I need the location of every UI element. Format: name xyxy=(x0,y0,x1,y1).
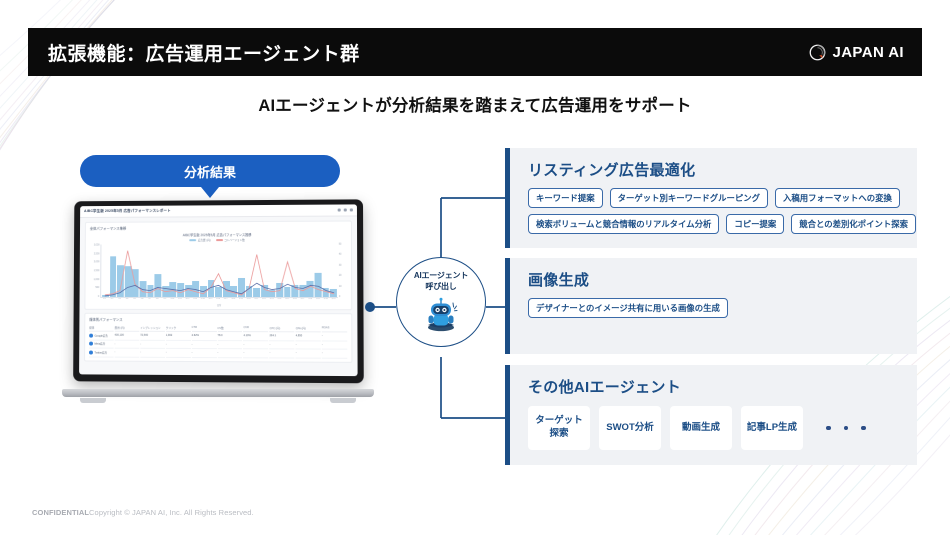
table-cell: - xyxy=(115,340,140,349)
x-tick: 5/12 xyxy=(184,298,191,306)
y-tick: 3,000 xyxy=(90,245,100,247)
chart-card: 全体パフォーマンス推移 AIBC学生版 2025年5月 広告パフォーマンス推移 … xyxy=(84,221,352,311)
y2-axis-ticks: 50403020100 xyxy=(339,244,347,298)
close-icon[interactable] xyxy=(350,208,353,211)
legend-label: 広告費 (円) xyxy=(198,238,211,242)
tag-row: 検索ボリュームと競合情報のリアルタイム分析コピー提案競合との差別化ポイント探索 xyxy=(528,214,903,234)
table-column-header: CVR xyxy=(243,324,268,332)
x-tick: 5/15 xyxy=(207,298,214,306)
table-cell: - xyxy=(217,349,242,358)
table-column-header: ROAS xyxy=(322,324,347,332)
x-tick: 5/5 xyxy=(131,298,138,306)
listing-tag-list: キーワード提案ターゲット別キーワードグルーピング入稿用フォーマットへの変換検索ボ… xyxy=(510,180,917,234)
slide-root: 拡張機能：広告運用エージェント群 JAPAN AI AIエージェントが分析結果を… xyxy=(0,0,950,535)
table-cell: 1,902 xyxy=(166,332,191,341)
panel-image-generation: 画像生成 デザイナーとのイメージ共有に用いる画像の生成 xyxy=(505,258,917,354)
table-column-header: CPC (円) xyxy=(269,324,294,332)
tag-row: キーワード提案ターゲット別キーワードグルーピング入稿用フォーマットへの変換 xyxy=(528,188,903,208)
table-cell: - xyxy=(243,349,268,358)
x-tick: 5/9 xyxy=(161,298,168,306)
table-cell: - xyxy=(114,349,139,358)
x-axis-label: 日付 xyxy=(217,303,221,307)
y2-tick: 30 xyxy=(339,265,347,267)
table-column-header: CV数 xyxy=(217,324,242,332)
dashboard-body: 全体パフォーマンス推移 AIBC学生版 2025年5月 広告パフォーマンス推移 … xyxy=(79,216,357,369)
table-cell: - xyxy=(296,341,321,350)
x-tick: 5/19 xyxy=(238,298,245,306)
table-cell: 78.0 xyxy=(217,332,242,341)
x-tick: 5/14 xyxy=(199,298,206,306)
x-tick: 5/10 xyxy=(169,298,176,306)
x-tick: 5/29 xyxy=(315,298,322,306)
dashboard-screenshot: AIBC学生版 2025年5月 広告パフォーマンスレポート 全体パフォーマンス推… xyxy=(79,204,358,376)
table-cell: - xyxy=(192,349,217,358)
agent-tag[interactable]: キーワード提案 xyxy=(528,188,603,208)
image-tag-list: デザイナーとのイメージ共有に用いる画像の生成 xyxy=(510,290,917,318)
laptop-foot-right xyxy=(330,398,356,403)
chart-lines xyxy=(101,244,338,297)
x-tick: 5/6 xyxy=(139,298,146,306)
table-cell: 72,540 xyxy=(140,332,165,341)
hub-label-line2: 呼び出し xyxy=(425,282,456,293)
x-tick: 5/7 xyxy=(146,298,153,306)
chart-plot: 3,0002,5002,0001,5001,0005000 5040302010… xyxy=(89,244,347,307)
table-column-header: インプレッション xyxy=(140,324,165,332)
x-tick: 5/28 xyxy=(307,298,314,306)
table-cell-media: Google広告 xyxy=(89,332,114,341)
y-tick: 2,500 xyxy=(90,253,100,255)
dot-icon xyxy=(826,426,831,431)
table-cell: 264.1 xyxy=(270,332,295,341)
agent-card[interactable]: 記事LP生成 xyxy=(741,406,803,450)
x-tick: 5/1 xyxy=(101,298,108,306)
table-cell: 2.62% xyxy=(192,332,217,341)
x-tick: 5/4 xyxy=(124,298,131,306)
table-cell-media: Meta広告 xyxy=(89,340,114,349)
table-row: Twitter広告--------- xyxy=(89,349,347,359)
more-agents-indicator xyxy=(826,426,866,431)
agent-hub[interactable]: AIエージェント 呼び出し xyxy=(396,257,486,347)
table-cell: - xyxy=(270,341,295,350)
x-tick: 5/23 xyxy=(268,298,275,306)
x-tick: 5/2 xyxy=(109,298,116,306)
footer: CONFIDENTIALCopyright © JAPAN AI, Inc. A… xyxy=(32,508,254,517)
maximize-icon[interactable] xyxy=(344,208,347,211)
table-column-header: クリック xyxy=(166,324,191,332)
table-cell: - xyxy=(217,341,242,350)
legend-swatch-icon xyxy=(216,239,223,242)
agent-tag[interactable]: 競合との差別化ポイント探索 xyxy=(791,214,916,234)
copyright-label: Copyright © JAPAN AI, Inc. All Rights Re… xyxy=(89,508,254,517)
agent-card[interactable]: SWOT分析 xyxy=(599,406,661,450)
agent-card[interactable]: 動画生成 xyxy=(670,406,732,450)
legend-item-line: コンバージョン数 xyxy=(216,238,245,242)
x-tick: 5/25 xyxy=(284,298,291,306)
panel-other-agents: その他AIエージェント ターゲット探索SWOT分析動画生成記事LP生成 xyxy=(505,365,917,465)
table-cell: - xyxy=(322,350,347,359)
table-column-header: CPA (円) xyxy=(296,324,321,332)
x-tick: 5/20 xyxy=(245,298,252,306)
brand-logo: JAPAN AI xyxy=(809,44,904,61)
table-cell: - xyxy=(322,332,347,341)
y2-tick: 50 xyxy=(339,244,347,246)
table-column-header: 媒体 xyxy=(89,324,114,332)
x-tick: 5/3 xyxy=(116,298,123,306)
y-tick: 0 xyxy=(89,296,99,298)
laptop-foot-left xyxy=(80,398,106,403)
connector-origin-dot xyxy=(365,302,375,312)
brand-name: JAPAN AI xyxy=(832,44,904,61)
media-dot-icon xyxy=(89,333,93,337)
x-tick: 5/22 xyxy=(261,298,268,306)
x-tick: 5/24 xyxy=(276,298,283,306)
y-tick: 500 xyxy=(89,287,99,289)
chart-title: AIBC学生版 2025年5月 広告パフォーマンス推移 xyxy=(90,232,347,238)
x-tick: 5/26 xyxy=(291,298,298,306)
robot-icon xyxy=(420,294,462,332)
laptop-mockup: AIBC学生版 2025年5月 広告パフォーマンスレポート 全体パフォーマンス推… xyxy=(62,200,374,405)
y-tick: 1,500 xyxy=(90,270,100,272)
dashboard-title: AIBC学生版 2025年5月 広告パフォーマンスレポート xyxy=(84,209,171,214)
chart-legend: 広告費 (円) コンバージョン数 xyxy=(90,238,347,243)
table-cell: - xyxy=(243,341,268,350)
agent-tag[interactable]: コピー提案 xyxy=(726,214,784,234)
window-controls[interactable] xyxy=(338,208,353,211)
down-arrow-icon xyxy=(201,187,219,198)
table-cell: - xyxy=(166,340,191,349)
y2-tick: 10 xyxy=(339,286,347,288)
plot-area xyxy=(100,244,338,298)
y-tick: 2,000 xyxy=(90,262,100,264)
y2-tick: 20 xyxy=(339,275,347,277)
table-cell: 400,100 xyxy=(115,332,140,341)
analysis-result-badge: 分析結果 xyxy=(80,155,340,187)
x-tick: 5/18 xyxy=(230,298,237,306)
media-dot-icon xyxy=(89,342,93,346)
table-cell: - xyxy=(192,341,217,350)
x-tick: 5/17 xyxy=(222,298,229,306)
table-cell: - xyxy=(140,349,165,358)
analysis-result-badge-group: 分析結果 xyxy=(80,155,340,198)
media-dot-icon xyxy=(89,351,93,355)
agent-tag[interactable]: 検索ボリュームと競合情報のリアルタイム分析 xyxy=(528,214,719,234)
x-tick: 5/8 xyxy=(154,298,161,306)
x-tick: 5/13 xyxy=(192,298,199,306)
subtitle: AIエージェントが分析結果を踏まえて広告運用をサポート xyxy=(0,92,950,116)
y-tick: 1,000 xyxy=(89,279,99,281)
dot-icon xyxy=(861,426,866,431)
confidential-label: CONFIDENTIAL xyxy=(32,508,89,517)
y-axis-ticks: 3,0002,5002,0001,5001,0005000 xyxy=(89,245,99,298)
page-title: 拡張機能：広告運用エージェント群 xyxy=(48,39,360,66)
y2-tick: 40 xyxy=(339,254,347,256)
agent-tag[interactable]: デザイナーとのイメージ共有に用いる画像の生成 xyxy=(528,298,728,318)
table-cell: - xyxy=(140,340,165,349)
table-cell-media: Twitter広告 xyxy=(89,349,114,358)
laptop-screen: AIBC学生版 2025年5月 広告パフォーマンスレポート 全体パフォーマンス推… xyxy=(73,199,364,383)
table-cell: - xyxy=(322,341,347,350)
other-agent-cards: ターゲット探索SWOT分析動画生成記事LP生成 xyxy=(510,397,917,450)
chart-card-title: 全体パフォーマンス推移 xyxy=(90,225,347,231)
panel-title: リスティング広告最適化 xyxy=(510,148,917,180)
table-column-header: 費用 (円) xyxy=(115,324,140,332)
agent-tag[interactable]: 入稿用フォーマットへの変換 xyxy=(775,188,900,208)
table-cell: - xyxy=(166,349,191,358)
table-body: Google広告400,10072,5401,9022.62%78.04.10%… xyxy=(89,332,347,359)
x-tick: 5/21 xyxy=(253,298,260,306)
x-tick: 5/31 xyxy=(330,298,337,306)
table-cell: - xyxy=(296,350,321,359)
agent-tag[interactable]: ターゲット別キーワードグルーピング xyxy=(610,188,768,208)
legend-swatch-icon xyxy=(189,239,196,242)
dot-icon xyxy=(844,426,849,431)
japan-ai-circle-logo-icon xyxy=(809,44,826,61)
tag-row: デザイナーとのイメージ共有に用いる画像の生成 xyxy=(528,298,903,318)
y2-tick: 0 xyxy=(339,296,347,298)
table-cell: - xyxy=(270,350,295,359)
minimize-icon[interactable] xyxy=(338,209,341,212)
table-cell: 4,850 xyxy=(296,332,321,341)
header-bar: 拡張機能：広告運用エージェント群 JAPAN AI xyxy=(28,28,922,76)
x-tick: 5/11 xyxy=(177,298,184,306)
panel-listing-optimization: リスティング広告最適化 キーワード提案ターゲット別キーワードグルーピング入稿用フ… xyxy=(505,148,917,248)
table-card: 媒体別パフォーマンス 媒体費用 (円)インプレッションクリックCTRCV数CVR… xyxy=(84,313,352,363)
table-card-title: 媒体別パフォーマンス xyxy=(89,317,347,323)
legend-item-bar: 広告費 (円) xyxy=(189,238,210,242)
laptop-base xyxy=(62,389,374,397)
x-tick: 5/27 xyxy=(299,298,306,306)
table-column-header: CTR xyxy=(192,324,217,332)
legend-label: コンバージョン数 xyxy=(224,238,245,242)
x-tick: 5/30 xyxy=(322,298,329,306)
panel-title: 画像生成 xyxy=(510,258,917,290)
table-cell: 4.10% xyxy=(243,332,268,341)
hub-label-line1: AIエージェント xyxy=(414,271,468,282)
panel-title: その他AIエージェント xyxy=(510,365,917,397)
agent-card[interactable]: ターゲット探索 xyxy=(528,406,590,450)
